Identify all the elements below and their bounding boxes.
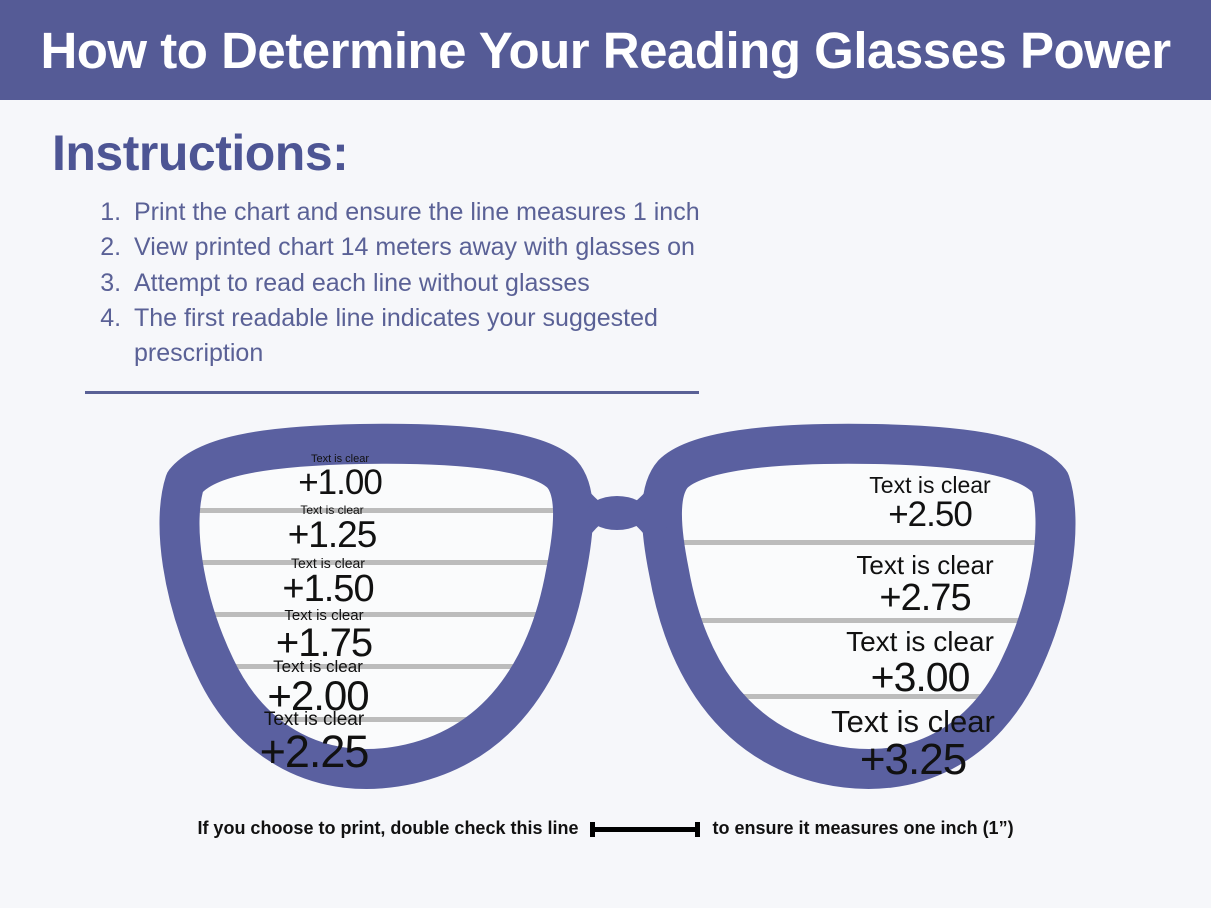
lens-row: Text is clear +3.00 (800, 628, 1040, 698)
list-item: Print the chart and ensure the line meas… (128, 195, 768, 230)
reading-glasses-chart: Text is clear +1.00 Text is clear +1.25 … (110, 412, 1125, 812)
row-caption: Text is clear (856, 552, 993, 579)
one-inch-ruler-icon (590, 822, 700, 836)
section-divider (85, 391, 699, 394)
lens-row: Text is clear +1.00 (230, 454, 450, 501)
instructions-heading: Instructions: (0, 100, 1211, 181)
row-power: +2.75 (879, 579, 970, 618)
left-lens-text: Text is clear +1.00 Text is clear +1.25 … (110, 412, 580, 812)
list-item: The first readable line indicates your s… (128, 301, 768, 372)
ruler-bar (590, 827, 700, 832)
page-title: How to Determine Your Reading Glasses Po… (40, 25, 1170, 76)
ruler-cap-right (695, 822, 700, 837)
row-caption: Text is clear (869, 474, 990, 497)
lens-row: Text is clear +1.25 (222, 504, 442, 554)
lens-row: Text is clear +2.25 (204, 710, 424, 775)
lens-row: Text is clear +1.75 (214, 608, 434, 664)
row-caption: Text is clear (846, 628, 994, 657)
lens-row: Text is clear +1.50 (218, 556, 438, 609)
list-item: Attempt to read each line without glasse… (128, 266, 768, 301)
instructions-list: Print the chart and ensure the line meas… (0, 195, 768, 371)
instructions-section: Instructions: Print the chart and ensure… (0, 100, 1211, 371)
lens-row: Text is clear +3.25 (793, 706, 1033, 782)
row-power: +3.00 (871, 657, 970, 699)
footer-text-before: If you choose to print, double check thi… (197, 818, 578, 839)
header-banner: How to Determine Your Reading Glasses Po… (0, 0, 1211, 100)
row-power: +3.25 (860, 738, 966, 783)
list-item: View printed chart 14 meters away with g… (128, 230, 768, 265)
print-check-note: If you choose to print, double check thi… (0, 818, 1211, 839)
row-power: +1.25 (288, 516, 377, 554)
lens-row: Text is clear +2.75 (805, 552, 1045, 617)
right-lens-text: Text is clear +2.50 Text is clear +2.75 … (655, 412, 1125, 812)
row-power: +2.50 (888, 497, 972, 533)
row-power: +1.50 (282, 570, 373, 609)
row-caption: Text is clear (831, 706, 995, 738)
lens-row: Text is clear +2.50 (810, 474, 1050, 533)
row-power: +2.25 (260, 729, 369, 775)
row-power: +1.00 (298, 465, 382, 501)
footer-text-after: to ensure it measures one inch (1”) (712, 818, 1013, 839)
